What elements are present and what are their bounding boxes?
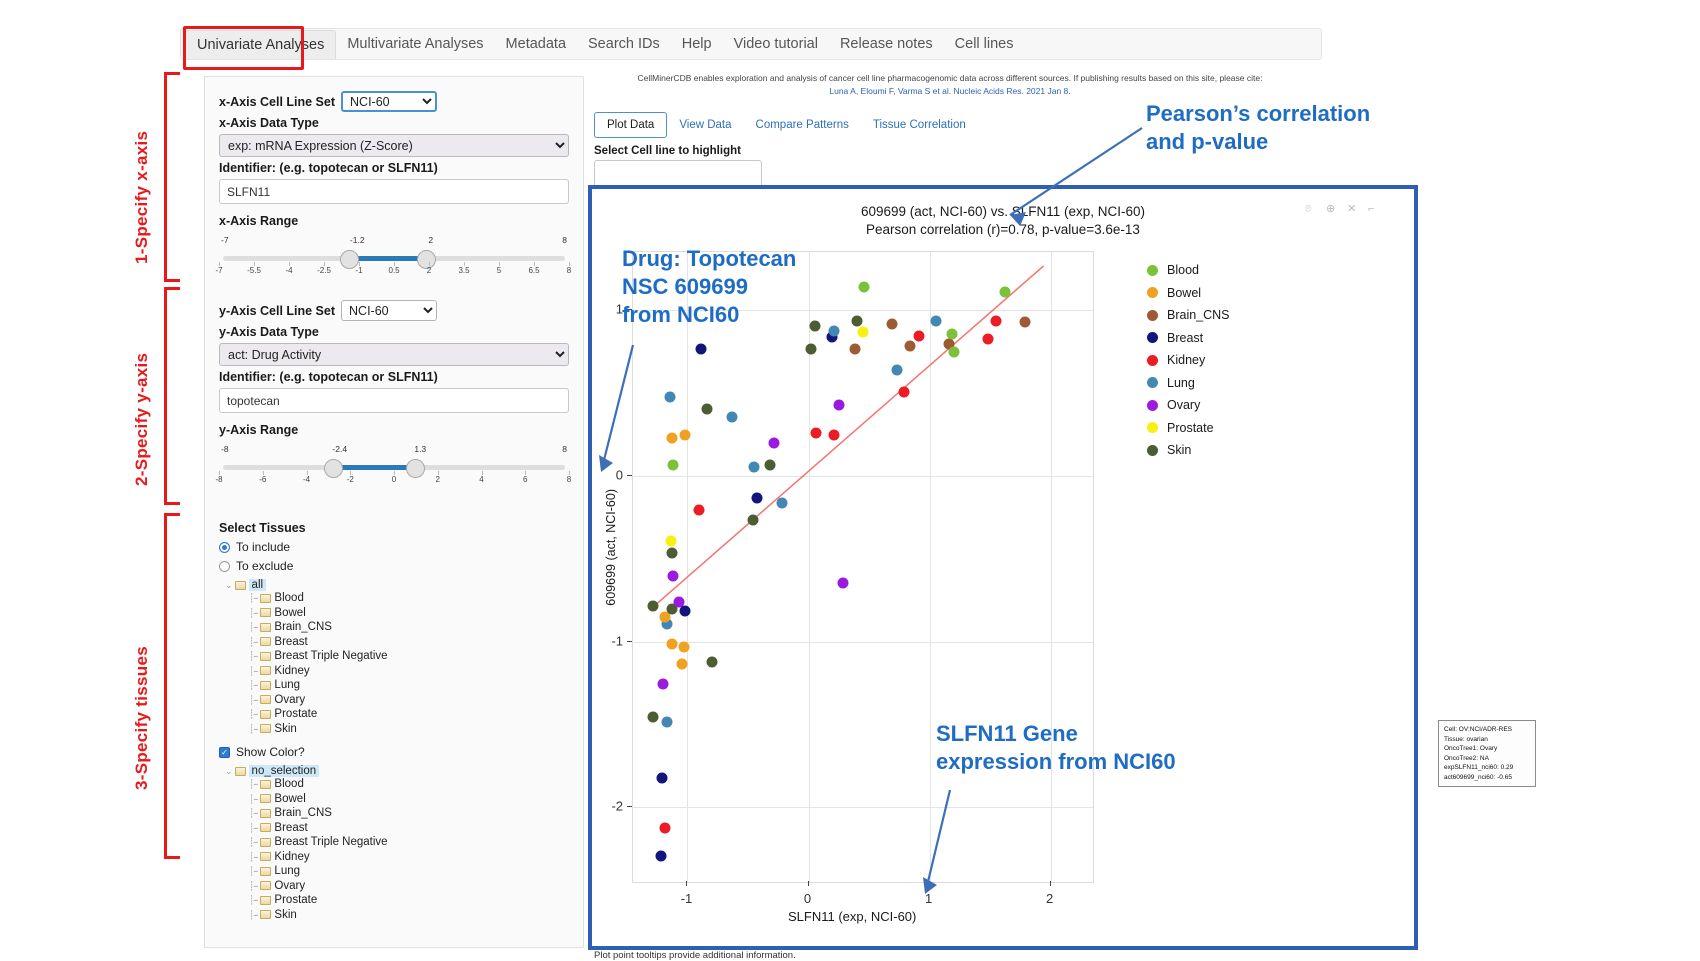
scatter-point[interactable] [982,333,993,344]
tree-item[interactable]: ┊--Kidney [249,850,569,865]
folder-icon [260,866,271,877]
folder-icon [260,837,271,848]
scatter-point[interactable] [809,320,820,331]
tree-connector-icon: ┊-- [249,777,257,792]
tooltip-line: Cell: OV:NCI/ADR-RES [1444,725,1531,735]
tree-connector-icon: ┊-- [249,693,257,708]
scatter-point[interactable] [748,514,759,525]
tree-root-no-selection[interactable]: ⌄ no_selection [225,765,569,777]
slider-tick: -2.5 [317,266,331,275]
tree-connector-icon: ┊-- [249,606,257,621]
main-nav: Univariate AnalysesMultivariate Analyses… [180,28,1322,60]
radio-exclude-label: To exclude [236,559,293,573]
y-slider-max-bubble: 1.3 [414,444,426,454]
citation-block: CellMinerCDB enables exploration and ana… [600,72,1300,98]
tree-connector-icon: ┊-- [249,649,257,664]
scatter-point[interactable] [852,315,863,326]
x-tick-label: -1 [681,891,693,906]
tree-item-label: Bowel [274,606,305,621]
tree-item-label: Breast Triple Negative [274,649,387,664]
legend-color-swatch [1147,422,1158,433]
subtab-tissue-correlation[interactable]: Tissue Correlation [861,113,978,137]
tree-item[interactable]: ┊--Breast [249,635,569,650]
scatter-point[interactable] [680,605,691,616]
legend-item[interactable]: Breast [1147,327,1230,350]
legend-label: Bowel [1167,286,1201,300]
tree-item[interactable]: ┊--Brain_CNS [249,620,569,635]
slider-tick: 2 [427,266,431,275]
x-tick-label: 1 [925,891,932,906]
nav-tab-search-ids[interactable]: Search IDs [577,30,671,58]
folder-icon [260,822,271,833]
tree-item[interactable]: ┊--Prostate [249,707,569,722]
y-identifier-label: Identifier: (e.g. topotecan or SLFN11) [219,370,569,384]
slider-tick: -2 [347,475,354,484]
tree-connector-icon: ┊-- [249,864,257,879]
x-tick-mark [1050,881,1051,886]
folder-icon [260,651,271,662]
folder-icon [260,607,271,618]
scatter-point[interactable] [858,327,869,338]
radio-exclude-icon [219,561,230,572]
folder-icon [260,779,271,790]
scatter-point[interactable] [696,343,707,354]
legend-color-swatch [1147,400,1158,411]
x-range-min-endlabel: -7 [221,235,229,245]
tree-item[interactable]: ┊--Ovary [249,693,569,708]
tree-root-label: no_selection [249,765,320,777]
slider-tick: -5.5 [247,266,261,275]
scatter-point[interactable] [679,642,690,653]
bracket-x-axis [164,72,180,282]
folder-icon [260,808,271,819]
plot-title-block: 609699 (act, NCI-60) vs. SLFN11 (exp, NC… [592,203,1414,239]
tree-item-label: Kidney [274,850,309,865]
scatter-point[interactable] [659,822,670,833]
slider-tick: -8 [215,475,222,484]
tree-item-label: Prostate [274,893,317,908]
x-cellline-select[interactable]: NCI-60 [341,91,437,112]
y-cellline-select[interactable]: NCI-60 [341,300,437,321]
tree-item[interactable]: ┊--Prostate [249,893,569,908]
point-tooltip: Cell: OV:NCI/ADR-RESTissue: ovarianOncoT… [1438,720,1536,787]
legend-color-swatch [1147,377,1158,388]
legend-color-swatch [1147,310,1158,321]
y-tick-mark [627,806,632,807]
folder-icon [260,851,271,862]
camera-icon[interactable]: ⌾ [1305,203,1317,215]
plotly-modebar[interactable]: ⌾ ⊕ ✕ ⌐ [1305,203,1380,215]
folder-icon [260,622,271,633]
x-range-slider[interactable]: -7 8 -1.2 2 -7-5.5-4-2.5-10.523.556.58 [219,230,569,286]
radio-to-exclude[interactable]: To exclude [219,559,569,573]
tree-item[interactable]: ┊--Skin [249,908,569,923]
scatter-point[interactable] [930,315,941,326]
citation-line-1: CellMinerCDB enables exploration and ana… [600,72,1300,85]
scatter-point[interactable] [666,547,677,558]
tooltip-line: expSLFN11_nci60: 0.29 [1444,763,1531,773]
slider-tick: 8 [567,475,571,484]
folder-icon [235,766,246,777]
tree-item[interactable]: ┊--Breast Triple Negative [249,835,569,850]
tree-connector-icon: ┊-- [249,707,257,722]
slider-tick: 3.5 [458,266,469,275]
nav-tab-video-tutorial[interactable]: Video tutorial [723,30,829,58]
scatter-point[interactable] [666,433,677,444]
y-axis-label: 609699 (act, NCI-60) [604,489,618,606]
slider-tick: 6 [523,475,527,484]
tree-item[interactable]: ┊--Lung [249,864,569,879]
legend-item[interactable]: Ovary [1147,394,1230,417]
scatter-point[interactable] [834,400,845,411]
tooltip-line: OncoTree1: Ovary [1444,744,1531,754]
scatter-point[interactable] [727,411,738,422]
x-slider-max-bubble: 2 [428,235,433,245]
legend-item[interactable]: Prostate [1147,417,1230,440]
tree-expander-icon[interactable]: ⌄ [225,766,232,777]
control-panel: x-Axis Cell Line Set NCI-60 x-Axis Data … [204,76,584,948]
scatter-point[interactable] [664,391,675,402]
scatter-point[interactable] [899,386,910,397]
tree-item-label: Skin [274,722,296,737]
nav-tab-release-notes[interactable]: Release notes [829,30,944,58]
tree-connector-icon: ┊-- [249,908,257,923]
x-identifier-label: Identifier: (e.g. topotecan or SLFN11) [219,161,569,175]
tree-item[interactable]: ┊--Lung [249,678,569,693]
plot-axes-area: -2-101 -1012 [632,251,1092,881]
y-range-min-endlabel: -8 [221,444,229,454]
legend-label: Blood [1167,263,1199,277]
slider-tick: -7 [215,266,222,275]
x-tick-label: 0 [804,891,811,906]
radio-to-include[interactable]: To include [219,540,569,554]
tree-item-label: Breast Triple Negative [274,835,387,850]
scatter-point[interactable] [693,504,704,515]
tree-item[interactable]: ┊--Brain_CNS [249,806,569,821]
scatter-point[interactable] [829,325,840,336]
plot-title: 609699 (act, NCI-60) vs. SLFN11 (exp, NC… [592,203,1414,221]
bracket-tissues [164,513,180,859]
slider-tick: 0 [392,475,396,484]
legend-color-swatch [1147,332,1158,343]
plot-subtabs: Plot DataView DataCompare PatternsTissue… [594,112,978,138]
tree-connector-icon: ┊-- [249,879,257,894]
tree-item-label: Blood [274,777,303,792]
subtab-compare-patterns[interactable]: Compare Patterns [744,113,861,137]
legend-label: Breast [1167,331,1203,345]
tree-item-label: Prostate [274,707,317,722]
tree-expander-icon[interactable]: ⌄ [225,580,232,591]
folder-icon [260,895,271,906]
tree-item-label: Bowel [274,792,305,807]
tree-connector-icon: ┊-- [249,821,257,836]
y-cellline-label: y-Axis Cell Line Set [219,304,335,318]
legend-color-swatch [1147,445,1158,456]
slider-tick: 4 [479,475,483,484]
scatter-point[interactable] [849,343,860,354]
y-slider-min-bubble: -2.4 [332,444,347,454]
scatter-point[interactable] [666,638,677,649]
x-datatype-label: x-Axis Data Type [219,116,569,130]
tree-item-label: Blood [274,591,303,606]
tree-item[interactable]: ┊--Breast Triple Negative [249,649,569,664]
scatter-point[interactable] [913,330,924,341]
legend-item[interactable]: Kidney [1147,349,1230,372]
slider-tick: -4 [285,266,292,275]
tree-connector-icon: ┊-- [249,792,257,807]
tree-item-label: Kidney [274,664,309,679]
folder-icon [260,709,271,720]
y-cellline-row: y-Axis Cell Line Set NCI-60 [219,300,569,321]
tree-connector-icon: ┊-- [249,664,257,679]
scatter-point[interactable] [657,773,668,784]
y-slider-range [336,465,417,470]
scatter-point[interactable] [676,658,687,669]
zoom-in-icon[interactable]: ⊕ [1326,203,1338,215]
nav-tab-cell-lines[interactable]: Cell lines [944,30,1025,58]
scatter-point[interactable] [999,287,1010,298]
tree-item[interactable]: ┊--Ovary [249,879,569,894]
tree-item[interactable]: ┊--Blood [249,591,569,606]
folder-icon [260,593,271,604]
annotation-pearson: Pearson’s correlation and p-value [1146,100,1370,156]
x-slider-ticks: -7-5.5-4-2.5-10.523.556.58 [219,266,569,280]
x-range-max-endlabel: 8 [562,235,567,245]
scatter-point[interactable] [768,438,779,449]
slider-tick: 8 [567,266,571,275]
slider-tick: 5 [497,266,501,275]
scatter-point[interactable] [665,536,676,547]
tree-root-label: all [249,579,267,591]
scatter-point[interactable] [702,403,713,414]
tree-item-label: Breast [274,635,307,650]
scatter-point[interactable] [668,459,679,470]
subtab-plot-data[interactable]: Plot Data [594,112,667,138]
folder-icon [260,680,271,691]
tree-item-label: Lung [274,678,300,693]
folder-icon [260,880,271,891]
folder-icon [260,636,271,647]
tree-item[interactable]: ┊--Bowel [249,792,569,807]
annotation-specify-tissues: 3-Specify tissues [132,600,152,790]
y-range-slider[interactable]: -8 8 -2.4 1.3 -8-6-4-202468 [219,439,569,495]
plot-legend: BloodBowelBrain_CNSBreastKidneyLungOvary… [1147,259,1230,462]
nav-tab-multivariate-analyses[interactable]: Multivariate Analyses [336,30,494,58]
folder-icon [260,665,271,676]
tree-connector-icon: ┊-- [249,635,257,650]
legend-item[interactable]: Bowel [1147,282,1230,305]
x-tick-mark [808,881,809,886]
scatter-point[interactable] [656,851,667,862]
scatter-point[interactable] [946,328,957,339]
tree-item-label: Skin [274,908,296,923]
slider-tick: -4 [303,475,310,484]
legend-label: Skin [1167,443,1191,457]
tree-connector-icon: ┊-- [249,620,257,635]
annotation-specify-y-axis: 2-Specify y-axis [132,300,152,486]
y-tick-mark [627,641,632,642]
autoscale-icon[interactable]: ⌐ [1368,203,1380,215]
scatter-point[interactable] [680,430,691,441]
tooltip-line: act609699_nci60: -0.65 [1444,773,1531,783]
tissue-tree-include: ⌄ all ┊--Blood┊--Bowel┊--Brain_CNS┊--Bre… [219,579,569,736]
scatter-point[interactable] [949,347,960,358]
show-color-label: Show Color? [236,745,305,759]
scatter-point[interactable] [765,459,776,470]
x-tick-mark [929,881,930,886]
select-tissues-label: Select Tissues [219,521,569,535]
y-range-max-endlabel: 8 [562,444,567,454]
legend-label: Brain_CNS [1167,308,1230,322]
folder-icon [260,723,271,734]
tree-item-label: Lung [274,864,300,879]
legend-label: Prostate [1167,421,1214,435]
nav-tab-metadata[interactable]: Metadata [495,30,577,58]
legend-color-swatch [1147,355,1158,366]
show-color-checkbox[interactable]: ✓ Show Color? [219,745,569,759]
slider-tick: 2 [436,475,440,484]
scatter-point[interactable] [1020,317,1031,328]
nav-tab-help[interactable]: Help [671,30,723,58]
folder-icon [235,580,246,591]
tree-item-label: Brain_CNS [274,620,332,635]
scatter-point[interactable] [811,428,822,439]
tree-item-label: Ovary [274,693,305,708]
slider-tick: 0.5 [388,266,399,275]
x-identifier-input[interactable] [219,179,569,204]
scatter-point[interactable] [859,282,870,293]
legend-item[interactable]: Blood [1147,259,1230,282]
tree-root-all[interactable]: ⌄ all [225,579,569,591]
y-datatype-label: y-Axis Data Type [219,325,569,339]
tree-item-label: Brain_CNS [274,806,332,821]
highlight-label: Select Cell line to highlight [594,145,741,157]
annotation-gene: SLFN11 Gene expression from NCI60 [936,720,1176,776]
tree-connector-icon: ┊-- [249,850,257,865]
scatter-point[interactable] [662,716,673,727]
legend-item[interactable]: Brain_CNS [1147,304,1230,327]
x-cellline-row: x-Axis Cell Line Set NCI-60 [219,91,569,112]
tree-connector-icon: ┊-- [249,591,257,606]
scatter-point[interactable] [837,577,848,588]
x-cellline-label: x-Axis Cell Line Set [219,95,335,109]
tree-connector-icon: ┊-- [249,678,257,693]
close-icon[interactable]: ✕ [1347,203,1359,215]
tree-item-label: Ovary [274,879,305,894]
legend-item[interactable]: Lung [1147,372,1230,395]
slider-tick: -1 [355,266,362,275]
tooltip-line: Tissue: ovarian [1444,735,1531,745]
folder-icon [260,909,271,920]
checkbox-checked-icon: ✓ [219,747,230,758]
slider-tick: -6 [259,475,266,484]
scatter-point[interactable] [668,570,679,581]
legend-item[interactable]: Skin [1147,439,1230,462]
x-range-label: x-Axis Range [219,214,569,228]
folder-icon [260,694,271,705]
scatter-point[interactable] [905,340,916,351]
x-slider-min-bubble: -1.2 [350,235,365,245]
slider-tick: 6.5 [528,266,539,275]
scatter-point[interactable] [991,315,1002,326]
scatter-point[interactable] [887,318,898,329]
scatter-point[interactable] [647,600,658,611]
annotation-specify-x-axis: 1-Specify x-axis [132,88,152,264]
scatter-point[interactable] [892,365,903,376]
radio-include-icon [219,542,230,553]
tree-connector-icon: ┊-- [249,835,257,850]
radio-include-label: To include [236,540,290,554]
scatter-point[interactable] [658,678,669,689]
y-tick-mark [627,475,632,476]
subtab-view-data[interactable]: View Data [667,113,743,137]
tree-item[interactable]: ┊--Blood [249,777,569,792]
scatter-point[interactable] [647,711,658,722]
tooltip-line: OncoTree2: NA [1444,754,1531,764]
tree-connector-icon: ┊-- [249,806,257,821]
scatter-point[interactable] [706,657,717,668]
scatter-point[interactable] [806,343,817,354]
bracket-y-axis [164,287,180,505]
annotation-drug: Drug: Topotecan NSC 609699 from NCI60 [622,245,796,329]
y-slider-ticks: -8-6-4-202468 [219,475,569,489]
tree-item[interactable]: ┊--Bowel [249,606,569,621]
x-tick-mark [686,881,687,886]
tree-connector-icon: ┊-- [249,893,257,908]
x-datatype-select[interactable]: exp: mRNA Expression (Z-Score) [219,134,569,157]
y-datatype-select[interactable]: act: Drug Activity [219,343,569,366]
citation-link[interactable]: Luna A, Eloumi F, Varma S et al. Nucleic… [600,85,1300,98]
tree-connector-icon: ┊-- [249,722,257,737]
legend-label: Lung [1167,376,1195,390]
plot-subtitle: Pearson correlation (r)=0.78, p-value=3.… [592,221,1414,239]
legend-color-swatch [1147,265,1158,276]
scatter-point[interactable] [829,430,840,441]
scatter-point[interactable] [749,461,760,472]
x-axis-label: SLFN11 (exp, NCI-60) [788,909,916,924]
scatter-point[interactable] [777,498,788,509]
legend-color-swatch [1147,287,1158,298]
tissue-tree-exclude: ⌄ no_selection ┊--Blood┊--Bowel┊--Brain_… [219,765,569,922]
legend-label: Ovary [1167,398,1200,412]
nav-tab-univariate-analyses[interactable]: Univariate Analyses [185,30,336,59]
scatter-point[interactable] [751,493,762,504]
y-range-label: y-Axis Range [219,423,569,437]
legend-label: Kidney [1167,353,1205,367]
tree-item[interactable]: ┊--Kidney [249,664,569,679]
tree-item[interactable]: ┊--Skin [249,722,569,737]
x-tick-label: 2 [1046,891,1053,906]
tree-item-label: Breast [274,821,307,836]
tree-item[interactable]: ┊--Breast [249,821,569,836]
y-identifier-input[interactable] [219,388,569,413]
folder-icon [260,793,271,804]
